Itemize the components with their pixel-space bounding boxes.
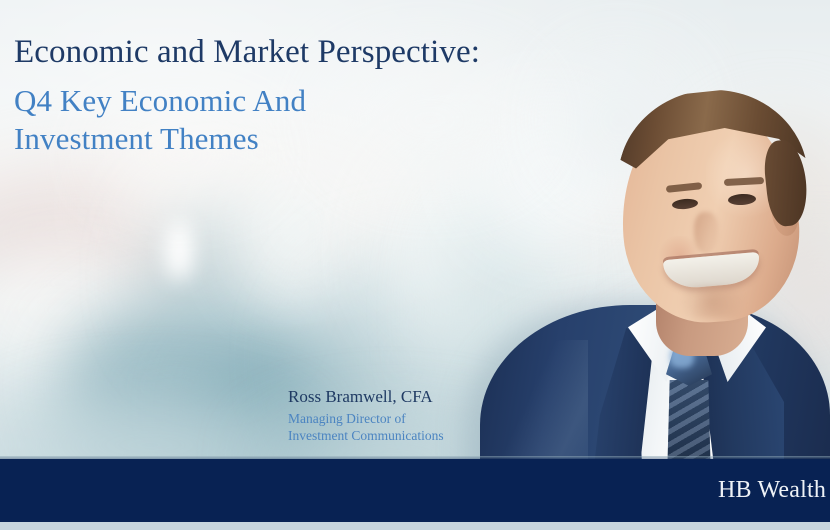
page-subtitle: Q4 Key Economic And Investment Themes — [14, 82, 614, 158]
brand-logo-text: HB Wealth — [718, 474, 826, 506]
speaker-credit: Ross Bramwell, CFA Managing Director of … — [288, 386, 444, 444]
presentation-slide: Economic and Market Perspective: Q4 Key … — [0, 0, 830, 530]
page-subtitle-line-1: Q4 Key Economic And — [14, 83, 306, 118]
speaker-role-line-1: Managing Director of — [288, 411, 406, 426]
speaker-role: Managing Director of Investment Communic… — [288, 410, 444, 444]
footer-bottom-strip — [0, 522, 830, 530]
nose — [694, 212, 718, 254]
speaker-name: Ross Bramwell, CFA — [288, 386, 444, 408]
chin-shading — [670, 286, 754, 318]
footer-bar — [0, 459, 830, 522]
title-block: Economic and Market Perspective: Q4 Key … — [14, 32, 614, 158]
page-subtitle-line-2: Investment Themes — [14, 120, 614, 158]
page-title: Economic and Market Perspective: — [14, 32, 614, 72]
speaker-role-line-2: Investment Communications — [288, 428, 444, 443]
